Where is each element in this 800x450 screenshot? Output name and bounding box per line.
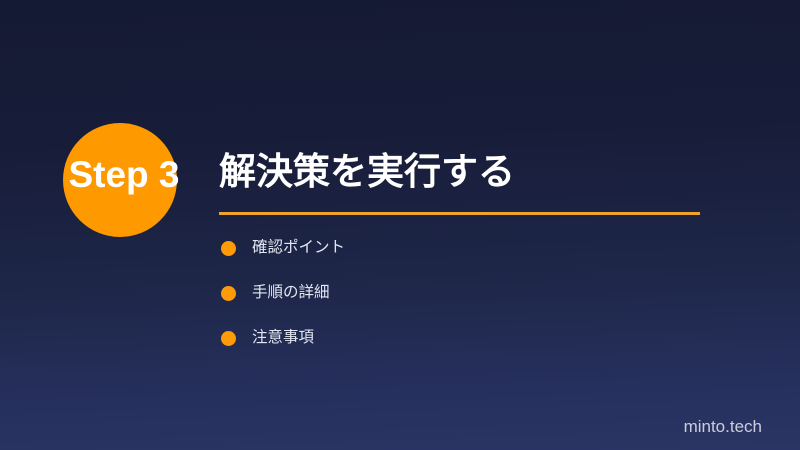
- list-item: 確認ポイント: [221, 240, 701, 285]
- slide-title: 解決策を実行する: [219, 148, 515, 196]
- bullet-dot-icon: [221, 286, 236, 301]
- list-item: 手順の詳細: [221, 285, 701, 330]
- title-divider: [219, 212, 700, 215]
- list-item-label: 注意事項: [252, 327, 314, 349]
- bullet-dot-icon: [221, 241, 236, 256]
- presentation-slide: Step 3 解決策を実行する 確認ポイント 手順の詳細 注意事項 minto.…: [0, 0, 800, 450]
- list-item-label: 確認ポイント: [252, 237, 345, 259]
- bullet-list: 確認ポイント 手順の詳細 注意事項: [221, 240, 701, 375]
- step-badge-label: Step 3: [44, 153, 204, 197]
- list-item-label: 手順の詳細: [252, 282, 330, 304]
- footer-brand: minto.tech: [684, 417, 762, 437]
- list-item: 注意事項: [221, 330, 701, 375]
- bullet-dot-icon: [221, 331, 236, 346]
